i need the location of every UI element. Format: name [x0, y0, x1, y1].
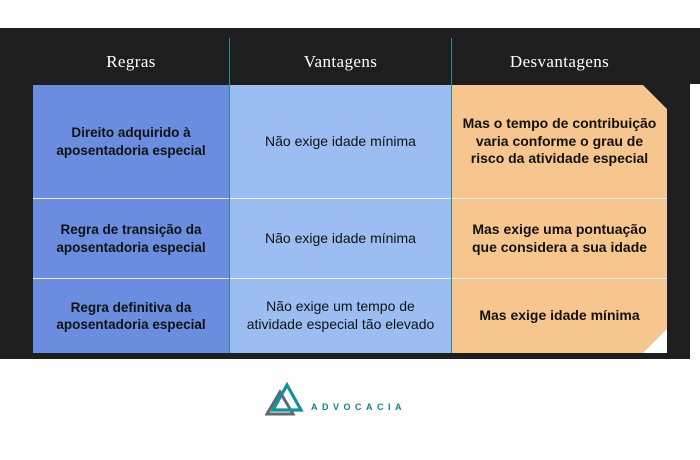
table-cell-disadvantage-1: Mas o tempo de contribuição varia confor… — [452, 85, 667, 198]
column-regras: Direito adquirido à aposentadoria especi… — [33, 85, 229, 353]
column-header-vantagens: Vantagens — [229, 38, 451, 85]
logo-wordmark: ADVOCACIA — [311, 402, 406, 412]
table-cell-rule-1: Direito adquirido à aposentadoria especi… — [33, 85, 229, 198]
table-cell-advantage-1: Não exige idade mínima — [230, 85, 451, 198]
table-body: Direito adquirido à aposentadoria especi… — [33, 85, 667, 353]
brand-logo: ADVOCACIA — [265, 374, 435, 420]
column-vantagens: Não exige idade mínima Não exige idade m… — [229, 85, 451, 353]
table-cell-disadvantage-2: Mas exige uma pontuação que considera a … — [452, 198, 667, 278]
infographic-canvas: Regras Vantagens Desvantagens Direito ad… — [0, 0, 700, 460]
table-cell-disadvantage-3: Mas exige idade mínima — [452, 278, 667, 353]
table-cell-advantage-2: Não exige idade mínima — [230, 198, 451, 278]
table-header-row: Regras Vantagens Desvantagens — [33, 38, 667, 85]
table-cell-rule-3: Regra definitiva da aposentadoria especi… — [33, 278, 229, 353]
table-cell-rule-2: Regra de transição da aposentadoria espe… — [33, 198, 229, 278]
triangle-outline-logo-icon — [265, 380, 309, 420]
comparison-table: Regras Vantagens Desvantagens Direito ad… — [33, 38, 667, 353]
column-header-regras: Regras — [33, 38, 229, 85]
table-cell-advantage-3: Não exige um tempo de atividade especial… — [230, 278, 451, 353]
column-desvantagens: Mas o tempo de contribuição varia confor… — [451, 85, 667, 353]
column-header-desvantagens: Desvantagens — [451, 38, 667, 85]
